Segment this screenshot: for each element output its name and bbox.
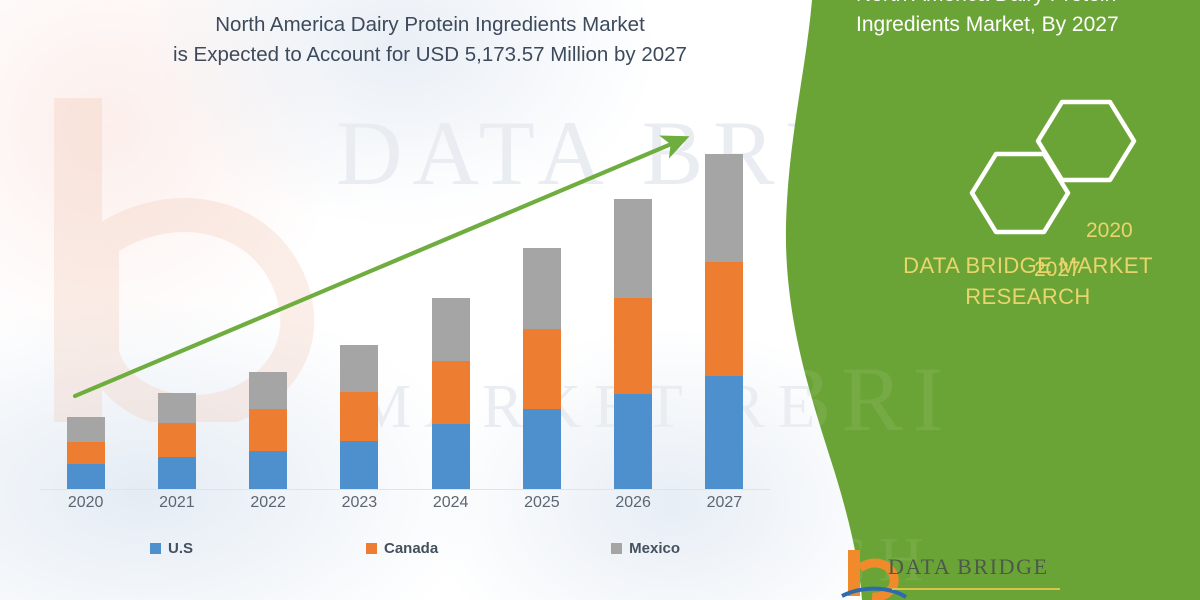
legend-label: Mexico [629,540,680,557]
legend-swatch-icon [150,543,161,554]
legend-label: Canada [384,540,438,557]
bar-segment-us-2027 [705,376,743,489]
x-axis-label-2025: 2025 [496,494,587,512]
bar-segment-us-2024 [432,424,470,489]
bar-segment-us-2025 [523,409,561,489]
brand-line-2: RESEARCH [856,281,1200,312]
hex-badge-2020-label: 2020 [1086,219,1133,243]
bar-segment-mexico-2027 [705,154,743,262]
x-axis-label-2022: 2022 [223,494,314,512]
bar-segment-canada-2020 [67,442,105,464]
panel-heading-line-2: Ingredients Market, By 2027 [856,10,1200,40]
bar-segment-mexico-2022 [249,372,287,409]
bar-segment-canada-2027 [705,262,743,376]
x-axis-label-2026: 2026 [588,494,679,512]
bar-segment-canada-2026 [614,298,652,394]
x-axis-label-2024: 2024 [405,494,496,512]
legend-label: U.S [168,540,193,557]
bar-slot [405,134,496,489]
bar-segment-us-2023 [340,441,378,489]
x-axis-label-2020: 2020 [40,494,131,512]
hexagon-badges: 2020 2027 [934,96,1164,246]
x-axis-line [40,489,770,490]
x-axis-label-2027: 2027 [679,494,770,512]
title-line-1: North America Dairy Protein Ingredients … [60,10,800,40]
legend-swatch-icon [366,543,377,554]
data-bridge-wordmark: DATA BRIDGE [888,554,1049,580]
bar-segment-mexico-2020 [67,417,105,442]
data-bridge-logo: DATA BRIDGE [840,548,1070,600]
stacked-bar-2027 [705,154,743,489]
x-axis-labels: 20202021202220232024202520262027 [40,494,770,512]
chart-legend: U.SCanadaMexico [150,540,680,557]
bar-segment-canada-2024 [432,361,470,424]
bar-segment-us-2026 [614,394,652,489]
stacked-bar-2025 [523,248,561,489]
panel-heading: North America Dairy Protein Ingredients … [856,0,1200,40]
stacked-bar-2021 [158,393,196,489]
legend-item-mexico[interactable]: Mexico [611,540,680,557]
bar-segment-canada-2021 [158,423,196,457]
bar-segment-canada-2022 [249,409,287,451]
stacked-bar-2023 [340,345,378,489]
bar-slot [679,134,770,489]
bar-segment-mexico-2021 [158,393,196,423]
stacked-bar-2024 [432,298,470,489]
green-panel-content: North America Dairy Protein Ingredients … [856,0,1200,600]
infographic-root: DATA BRIDGE MARKET RESEARCH North Americ… [0,0,1200,600]
stacked-bar-2022 [249,372,287,489]
bar-group [40,134,770,489]
bar-slot [131,134,222,489]
brand-line-1: DATA BRIDGE MARKET [856,250,1200,281]
bar-slot [223,134,314,489]
stacked-bar-chart [40,130,780,490]
bar-slot [314,134,405,489]
x-axis-label-2023: 2023 [314,494,405,512]
legend-item-us[interactable]: U.S [150,540,193,557]
bar-slot [588,134,679,489]
bar-segment-mexico-2025 [523,248,561,329]
bar-segment-us-2022 [249,451,287,489]
bar-segment-canada-2023 [340,392,378,441]
bar-slot [496,134,587,489]
panel-heading-line-1: North America Dairy Protein [856,0,1200,10]
title-line-2: is Expected to Account for USD 5,173.57 … [60,40,800,70]
legend-item-canada[interactable]: Canada [366,540,438,557]
bar-segment-mexico-2026 [614,199,652,298]
bar-slot [40,134,131,489]
bar-segment-mexico-2024 [432,298,470,361]
legend-swatch-icon [611,543,622,554]
page-title: North America Dairy Protein Ingredients … [60,10,800,69]
x-axis-label-2021: 2021 [131,494,222,512]
stacked-bar-2020 [67,417,105,489]
bar-segment-us-2021 [158,457,196,489]
bar-segment-us-2020 [67,464,105,489]
stacked-bar-2026 [614,199,652,489]
bar-segment-mexico-2023 [340,345,378,392]
bar-segment-canada-2025 [523,329,561,409]
brand-name: DATA BRIDGE MARKET RESEARCH [856,250,1200,312]
